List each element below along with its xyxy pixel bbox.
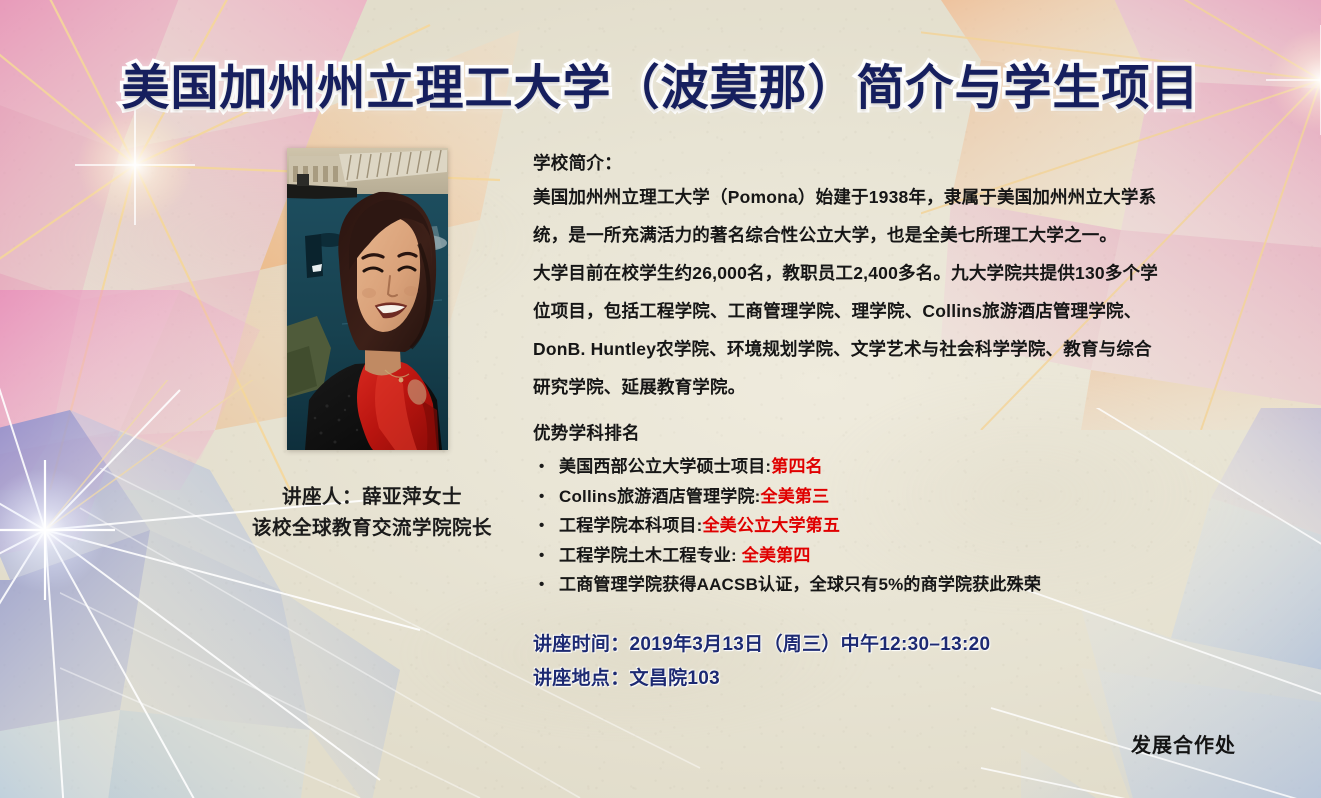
page-title: 美国加州州立理工大学（波莫那）简介与学生项目 — [121, 48, 1199, 118]
rank-label: 工程学院本科项目: — [559, 516, 702, 535]
rank-value: 全美第三 — [761, 487, 830, 506]
rank-value: 全美第四 — [742, 546, 811, 565]
speaker-name: 讲座人：薛亚萍女士 — [232, 482, 512, 513]
speaker-caption: 讲座人：薛亚萍女士 该校全球教育交流学院院长 — [232, 482, 512, 544]
rank-value: 全美公立大学第五 — [702, 516, 840, 535]
list-item: 工程学院本科项目:全美公立大学第五 — [533, 511, 1158, 541]
intro-paragraph-1: 美国加州州立理工大学（Pomona）始建于1938年，隶属于美国加州州立大学系统… — [533, 178, 1158, 254]
speaker-title: 该校全球教育交流学院院长 — [232, 513, 512, 544]
portrait-illustration — [287, 148, 448, 450]
event-location: 讲座地点：文昌院103 — [533, 662, 1158, 696]
poster-title-area: 美国加州州立理工大学（波莫那）简介与学生项目 — [0, 48, 1321, 118]
rankings-heading: 优势学科排名 — [533, 418, 1158, 448]
poster-canvas: 美国加州州立理工大学（波莫那）简介与学生项目 — [0, 0, 1321, 798]
intro-paragraph-2: 大学目前在校学生约26,000名，教职员工2,400多名。九大学院共提供130多… — [533, 254, 1158, 406]
rankings-list: 美国西部公立大学硕士项目:第四名 Collins旅游酒店管理学院:全美第三 工程… — [533, 452, 1158, 600]
list-item: 工程学院土木工程专业: 全美第四 — [533, 541, 1158, 571]
rank-label: 工商管理学院获得AACSB认证，全球只有5%的商学院获此殊荣 — [559, 575, 1041, 594]
rank-value: 第四名 — [771, 457, 823, 476]
intro-heading: 学校简介： — [533, 148, 1158, 178]
list-item: Collins旅游酒店管理学院:全美第三 — [533, 482, 1158, 512]
rank-label: 美国西部公立大学硕士项目: — [559, 457, 771, 476]
intro-paragraphs: 美国加州州立理工大学（Pomona）始建于1938年，隶属于美国加州州立大学系统… — [533, 178, 1158, 406]
list-item: 美国西部公立大学硕士项目:第四名 — [533, 452, 1158, 482]
rank-label: 工程学院土木工程专业: — [559, 546, 742, 565]
list-item: 工商管理学院获得AACSB认证，全球只有5%的商学院获此殊荣 — [533, 570, 1158, 600]
event-details: 讲座时间：2019年3月13日（周三）中午12:30–13:20 讲座地点：文昌… — [533, 628, 1158, 696]
event-time: 讲座时间：2019年3月13日（周三）中午12:30–13:20 — [533, 628, 1158, 662]
speaker-portrait-photo — [287, 148, 448, 450]
organizer-footer: 发展合作处 — [1131, 729, 1236, 758]
content-column: 学校简介： 美国加州州立理工大学（Pomona）始建于1938年，隶属于美国加州… — [533, 148, 1158, 696]
rank-label: Collins旅游酒店管理学院: — [559, 487, 761, 506]
